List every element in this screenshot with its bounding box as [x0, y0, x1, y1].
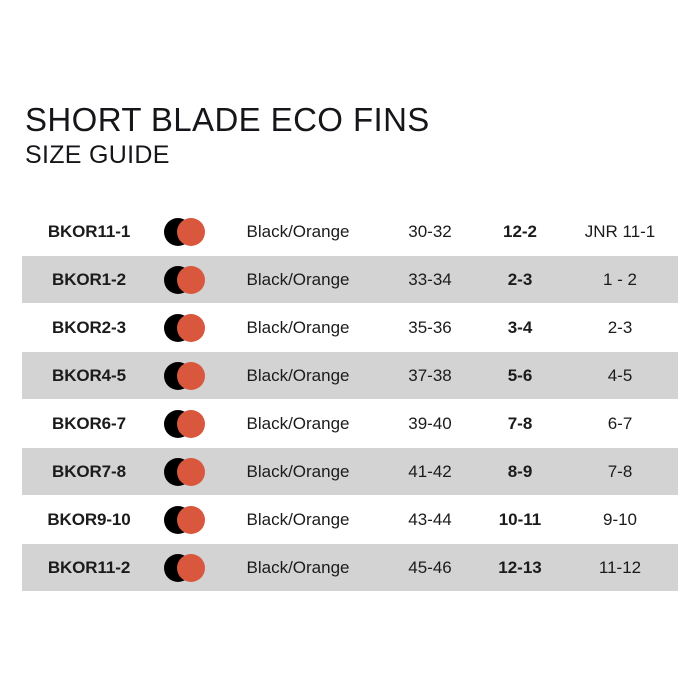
cell-size-uk: 11-12	[562, 544, 678, 592]
cell-sku: BKOR4-5	[22, 352, 156, 400]
black-orange-swatch-icon	[164, 266, 206, 294]
cell-size-us: 7-8	[478, 400, 562, 448]
cell-sku: BKOR11-2	[22, 544, 156, 592]
size-guide-table: BKOR11-1Black/Orange30-3212-2JNR 11-1BKO…	[22, 208, 678, 592]
swatch-orange-circle-icon	[177, 314, 205, 342]
cell-sku: BKOR9-10	[22, 496, 156, 544]
cell-swatch	[156, 304, 214, 352]
cell-size-uk: 7-8	[562, 448, 678, 496]
cell-colour-name: Black/Orange	[214, 448, 382, 496]
table-row: BKOR4-5Black/Orange37-385-64-5	[22, 352, 678, 400]
cell-swatch	[156, 544, 214, 592]
table-row: BKOR1-2Black/Orange33-342-31 - 2	[22, 256, 678, 304]
cell-size-us: 12-13	[478, 544, 562, 592]
cell-size-eu: 39-40	[382, 400, 478, 448]
page-title: SHORT BLADE ECO FINS	[25, 103, 665, 136]
cell-sku: BKOR7-8	[22, 448, 156, 496]
cell-size-us: 2-3	[478, 256, 562, 304]
black-orange-swatch-icon	[164, 314, 206, 342]
cell-size-us: 5-6	[478, 352, 562, 400]
cell-swatch	[156, 400, 214, 448]
cell-colour-name: Black/Orange	[214, 352, 382, 400]
cell-colour-name: Black/Orange	[214, 544, 382, 592]
cell-colour-name: Black/Orange	[214, 496, 382, 544]
table-row: BKOR7-8Black/Orange41-428-97-8	[22, 448, 678, 496]
swatch-orange-circle-icon	[177, 362, 205, 390]
black-orange-swatch-icon	[164, 506, 206, 534]
table-row: BKOR11-2Black/Orange45-4612-1311-12	[22, 544, 678, 592]
cell-colour-name: Black/Orange	[214, 400, 382, 448]
swatch-orange-circle-icon	[177, 554, 205, 582]
table-row: BKOR11-1Black/Orange30-3212-2JNR 11-1	[22, 208, 678, 256]
page-subtitle: SIZE GUIDE	[25, 143, 665, 168]
table-row: BKOR2-3Black/Orange35-363-42-3	[22, 304, 678, 352]
cell-size-us: 10-11	[478, 496, 562, 544]
cell-size-uk: 6-7	[562, 400, 678, 448]
swatch-orange-circle-icon	[177, 266, 205, 294]
cell-size-eu: 35-36	[382, 304, 478, 352]
cell-sku: BKOR2-3	[22, 304, 156, 352]
size-guide-page: SHORT BLADE ECO FINS SIZE GUIDE BKOR11-1…	[0, 0, 700, 700]
cell-swatch	[156, 496, 214, 544]
size-guide-table-body: BKOR11-1Black/Orange30-3212-2JNR 11-1BKO…	[22, 208, 678, 592]
cell-colour-name: Black/Orange	[214, 304, 382, 352]
cell-size-uk: 1 - 2	[562, 256, 678, 304]
cell-size-eu: 41-42	[382, 448, 478, 496]
cell-size-us: 3-4	[478, 304, 562, 352]
cell-swatch	[156, 352, 214, 400]
cell-size-eu: 43-44	[382, 496, 478, 544]
cell-size-us: 12-2	[478, 208, 562, 256]
swatch-orange-circle-icon	[177, 506, 205, 534]
black-orange-swatch-icon	[164, 554, 206, 582]
cell-sku: BKOR11-1	[22, 208, 156, 256]
black-orange-swatch-icon	[164, 458, 206, 486]
cell-swatch	[156, 448, 214, 496]
cell-colour-name: Black/Orange	[214, 208, 382, 256]
cell-size-uk: 2-3	[562, 304, 678, 352]
cell-size-eu: 33-34	[382, 256, 478, 304]
swatch-orange-circle-icon	[177, 218, 205, 246]
swatch-orange-circle-icon	[177, 410, 205, 438]
black-orange-swatch-icon	[164, 218, 206, 246]
cell-size-uk: JNR 11-1	[562, 208, 678, 256]
swatch-orange-circle-icon	[177, 458, 205, 486]
cell-colour-name: Black/Orange	[214, 256, 382, 304]
black-orange-swatch-icon	[164, 410, 206, 438]
cell-sku: BKOR6-7	[22, 400, 156, 448]
cell-size-uk: 4-5	[562, 352, 678, 400]
cell-swatch	[156, 208, 214, 256]
cell-swatch	[156, 256, 214, 304]
cell-size-eu: 45-46	[382, 544, 478, 592]
cell-size-us: 8-9	[478, 448, 562, 496]
black-orange-swatch-icon	[164, 362, 206, 390]
cell-size-eu: 30-32	[382, 208, 478, 256]
page-heading: SHORT BLADE ECO FINS SIZE GUIDE	[25, 103, 665, 168]
table-row: BKOR9-10Black/Orange43-4410-119-10	[22, 496, 678, 544]
cell-sku: BKOR1-2	[22, 256, 156, 304]
cell-size-eu: 37-38	[382, 352, 478, 400]
cell-size-uk: 9-10	[562, 496, 678, 544]
table-row: BKOR6-7Black/Orange39-407-86-7	[22, 400, 678, 448]
